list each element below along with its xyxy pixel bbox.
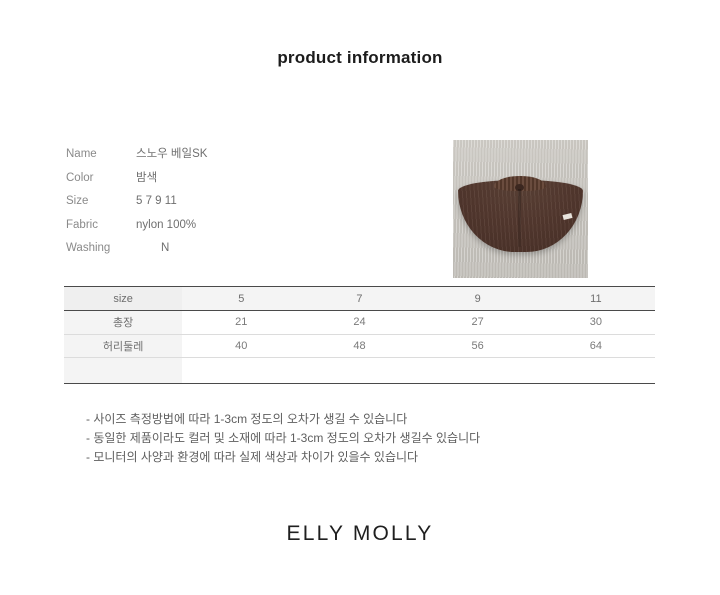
size-table: size 5 7 9 11 총장 21 24 27 30 허리둘레 40 48 …: [64, 286, 655, 384]
table-row-empty: [64, 358, 655, 384]
table-row-label-length: 총장: [64, 311, 182, 335]
spec-label-size: Size: [66, 190, 136, 214]
table-row: 허리둘레 40 48 56 64: [64, 334, 655, 358]
note-line-measurement: - 사이즈 측정방법에 따라 1-3cm 정도의 오차가 생길 수 있습니다: [86, 410, 646, 429]
table-cell-empty-7: [300, 358, 418, 384]
note-line-monitor: - 모니터의 사양과 환경에 따라 실제 색상과 차이가 있을수 있습니다: [86, 448, 646, 467]
table-cell-length-5: 21: [182, 311, 300, 335]
table-header-row: size 5 7 9 11: [64, 287, 655, 311]
spec-row-washing: Washing N: [66, 237, 366, 261]
table-cell-empty-11: [537, 358, 655, 384]
table-cell-length-11: 30: [537, 311, 655, 335]
spec-row-color: Color 밤색: [66, 167, 366, 191]
spec-value-name: 스노우 베일SK: [136, 143, 207, 167]
table-header-cell-9: 9: [419, 287, 537, 311]
spec-row-size: Size 5 7 9 11: [66, 190, 366, 214]
product-spec-list: Name 스노우 베일SK Color 밤색 Size 5 7 9 11 Fab…: [66, 143, 366, 261]
spec-row-name: Name 스노우 베일SK: [66, 143, 366, 167]
spec-value-washing: N: [136, 237, 169, 261]
table-cell-empty-5: [182, 358, 300, 384]
table-cell-length-9: 27: [419, 311, 537, 335]
spec-value-size: 5 7 9 11: [136, 190, 177, 214]
skirt-garment: [458, 176, 583, 256]
spec-label-name: Name: [66, 143, 136, 167]
table-header-cell-7: 7: [300, 287, 418, 311]
page-title: product information: [0, 48, 720, 68]
table-row: 총장 21 24 27 30: [64, 311, 655, 335]
spec-value-fabric: nylon 100%: [136, 214, 196, 238]
table-row-label-empty: [64, 358, 182, 384]
table-cell-waist-7: 48: [300, 334, 418, 358]
table-header-cell-11: 11: [537, 287, 655, 311]
skirt-center-seam: [518, 189, 521, 247]
table-row-label-waist: 허리둘레: [64, 334, 182, 358]
table-cell-length-7: 24: [300, 311, 418, 335]
spec-label-color: Color: [66, 167, 136, 191]
spec-value-color: 밤색: [136, 167, 157, 191]
table-header-cell-5: 5: [182, 287, 300, 311]
spec-row-fabric: Fabric nylon 100%: [66, 214, 366, 238]
brand-name: ELLY MOLLY: [0, 522, 720, 546]
table-header-cell-size: size: [64, 287, 182, 311]
spec-label-fabric: Fabric: [66, 214, 136, 238]
table-cell-empty-9: [419, 358, 537, 384]
table-cell-waist-5: 40: [182, 334, 300, 358]
table-cell-waist-9: 56: [419, 334, 537, 358]
disclaimer-notes: - 사이즈 측정방법에 따라 1-3cm 정도의 오차가 생길 수 있습니다 -…: [86, 410, 646, 467]
note-line-material: - 동일한 제품이라도 컬러 및 소재에 따라 1-3cm 정도의 오차가 생길…: [86, 429, 646, 448]
table-cell-waist-11: 64: [537, 334, 655, 358]
product-photo: [453, 140, 588, 278]
spec-label-washing: Washing: [66, 237, 136, 261]
